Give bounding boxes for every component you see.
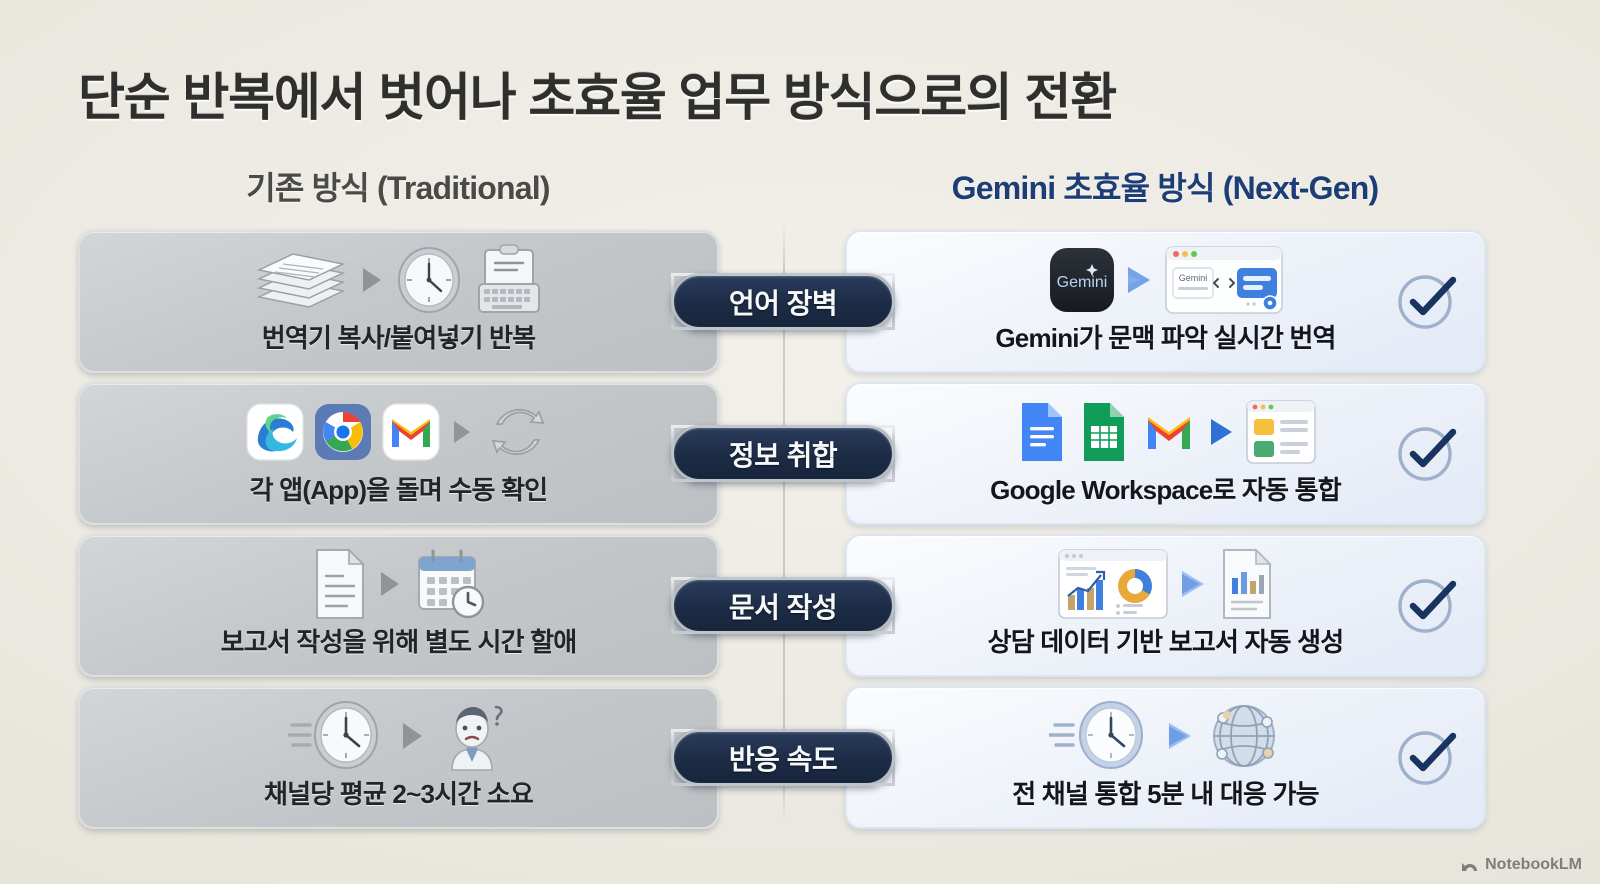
nextgen-card-document: 상담 데이터 기반 보고서 자동 생성 xyxy=(845,534,1486,677)
globe-network-icon xyxy=(1205,698,1283,774)
google-docs-icon xyxy=(1016,401,1068,463)
traditional-card-language: 번역기 복사/붙여넣기 반복 xyxy=(78,230,719,373)
traditional-card-document: 보고서 작성을 위해 별도 시간 할애 xyxy=(78,534,719,677)
google-sheets-icon xyxy=(1078,401,1130,463)
badge-label: 반응 속도 xyxy=(729,738,837,778)
page-title: 단순 반복에서 벗어나 초효율 업무 방식으로의 전환 xyxy=(78,56,1116,130)
traditional-card-speed: 채널당 평균 2~3시간 소요 xyxy=(78,686,719,829)
arrow-gray-icon xyxy=(398,720,426,752)
column-header-nextgen: Gemini 초효율 방식 (Next-Gen) xyxy=(952,163,1379,209)
category-badge-language[interactable]: 언어 장벽 xyxy=(671,273,895,330)
card-caption: Google Workspace로 자동 통합 xyxy=(990,470,1341,507)
icon-strip xyxy=(246,396,552,468)
badge-label: 언어 장벽 xyxy=(729,282,837,322)
category-badge-document[interactable]: 문서 작성 xyxy=(671,577,895,634)
clipboard-keyboard-icon xyxy=(473,244,545,316)
svg-text:x: x xyxy=(1219,274,1226,289)
notebooklm-logo-icon xyxy=(1461,857,1479,873)
icon-strip xyxy=(288,700,510,772)
badge-label: 문서 작성 xyxy=(729,586,837,626)
calendar-clock-icon xyxy=(413,547,487,621)
clock-icon xyxy=(395,245,463,315)
check-circle-icon xyxy=(1396,727,1458,789)
analytics-window-icon xyxy=(1058,548,1168,620)
sync-refresh-icon xyxy=(484,398,552,466)
edge-browser-icon xyxy=(246,403,304,461)
card-caption: 보고서 작성을 위해 별도 시간 할애 xyxy=(221,622,577,659)
arrow-blue-icon xyxy=(1178,567,1208,601)
paper-stack-icon xyxy=(253,247,349,313)
arrow-blue-icon xyxy=(1165,719,1195,753)
category-badge-speed[interactable]: 반응 속도 xyxy=(671,729,895,786)
arrow-gray-icon xyxy=(450,418,474,446)
notebooklm-watermark: NotebookLM xyxy=(1461,856,1582,874)
column-header-traditional: 기존 방식 (Traditional) xyxy=(246,163,549,209)
icon-strip xyxy=(253,244,545,316)
card-caption: 채널당 평균 2~3시간 소요 xyxy=(264,774,533,811)
chrome-browser-icon xyxy=(314,403,372,461)
icon-strip xyxy=(1049,700,1283,772)
icon-strip xyxy=(1016,396,1316,468)
nextgen-card-info: Google Workspace로 자동 통합 xyxy=(845,382,1486,525)
card-caption: 전 채널 통합 5분 내 대응 가능 xyxy=(1012,774,1319,811)
dashboard-window-icon xyxy=(1246,399,1316,465)
fast-clock-blue-icon xyxy=(1049,699,1155,773)
nextgen-card-speed: 전 채널 통합 5분 내 대응 가능 xyxy=(845,686,1486,829)
stressed-person-icon xyxy=(436,699,510,773)
arrow-blue-icon xyxy=(1208,416,1236,448)
check-circle-icon xyxy=(1396,271,1458,333)
gmail-icon xyxy=(1140,403,1198,461)
report-document-icon xyxy=(1218,548,1274,620)
gemini-app-label: Gemini xyxy=(1056,274,1107,291)
document-icon xyxy=(311,548,367,620)
watermark-label: NotebookLM xyxy=(1485,856,1582,874)
card-caption: 각 앱(App)을 돌며 수동 확인 xyxy=(250,470,548,507)
translate-source-label: Gemini xyxy=(1178,273,1207,283)
arrow-gray-icon xyxy=(359,265,385,295)
card-caption: 상담 데이터 기반 보고서 자동 생성 xyxy=(988,622,1344,659)
card-caption: 번역기 복사/붙여넣기 반복 xyxy=(262,318,536,355)
check-circle-icon xyxy=(1396,423,1458,485)
icon-strip: Gemini G xyxy=(1049,244,1283,316)
gemini-app-icon: Gemini xyxy=(1049,247,1115,313)
fast-clock-icon xyxy=(288,699,388,773)
nextgen-card-language: Gemini G xyxy=(845,230,1486,373)
badge-label: 정보 취합 xyxy=(729,434,837,474)
arrow-gray-icon xyxy=(377,569,403,599)
translate-window-icon: Gemini x xyxy=(1165,244,1283,316)
card-caption: Gemini가 문맥 파악 실시간 번역 xyxy=(995,318,1335,355)
gmail-icon xyxy=(382,403,440,461)
category-badge-info[interactable]: 정보 취합 xyxy=(671,425,895,482)
traditional-card-info: 각 앱(App)을 돌며 수동 확인 xyxy=(78,382,719,525)
check-circle-icon xyxy=(1396,575,1458,637)
icon-strip xyxy=(1058,548,1274,620)
arrow-blue-icon xyxy=(1125,263,1155,297)
icon-strip xyxy=(311,548,487,620)
